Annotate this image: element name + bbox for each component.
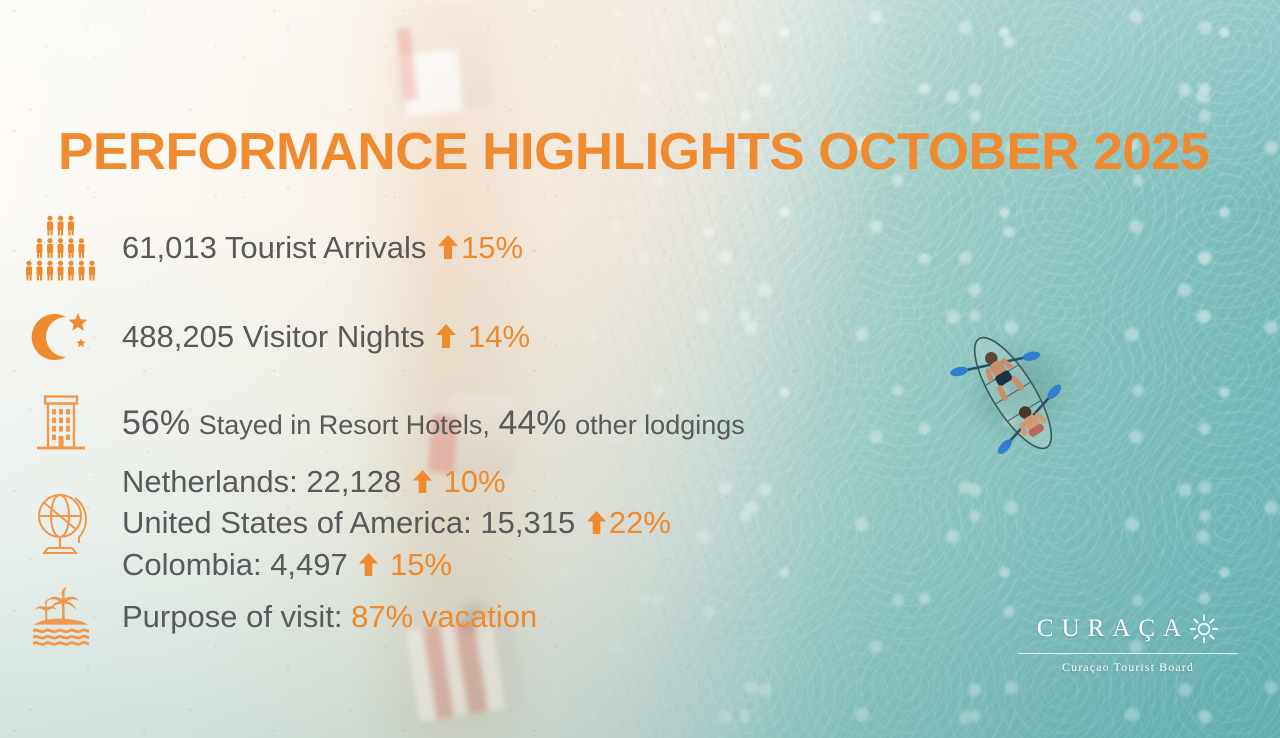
logo-wordmark: C U R A Ç A xyxy=(1012,614,1244,644)
lodging-primary-label: Stayed in Resort Hotels, xyxy=(199,410,490,440)
origin-market-list: Netherlands: 22,128 10% United States of… xyxy=(122,462,671,585)
logo-letter: Ç xyxy=(1138,615,1156,643)
stat-trend: 14% xyxy=(468,319,530,354)
logo-tagline: Curaçao Tourist Board xyxy=(1012,660,1244,675)
stats-list: 61,013 Tourist Arrivals 15% 488,205 Visi… xyxy=(0,205,820,655)
stat-text-tourist-arrivals: 61,013 Tourist Arrivals 15% xyxy=(122,229,523,267)
foam-highlight xyxy=(0,0,180,78)
arrow-up-icon xyxy=(412,469,433,494)
lodging-secondary-pct: 44% xyxy=(498,404,566,442)
stat-value: 61,013 xyxy=(122,230,217,265)
origin-value: 22,128 xyxy=(306,464,401,499)
logo-letter: R xyxy=(1088,615,1106,643)
origin-country: Colombia: xyxy=(122,547,262,582)
purpose-highlight: 87% vacation xyxy=(351,599,537,634)
arrow-up-icon xyxy=(435,323,457,349)
origin-trend: 10% xyxy=(443,464,505,499)
hotel-building-icon xyxy=(0,392,122,456)
people-pyramid-icon xyxy=(0,215,122,281)
arrow-up-icon xyxy=(358,552,379,577)
performance-highlights-slide: PERFORMANCE HIGHLIGHTS OCTOBER 2025 xyxy=(0,0,1280,738)
stat-trend: 15% xyxy=(461,230,523,265)
origin-value: 4,497 xyxy=(270,547,348,582)
arrow-up-icon xyxy=(437,234,459,260)
palm-island-icon xyxy=(0,586,122,648)
lodging-secondary-label: other lodgings xyxy=(575,410,745,440)
stat-row-tourist-arrivals: 61,013 Tourist Arrivals 15% xyxy=(0,205,820,291)
stat-row-lodging: 56% Stayed in Resort Hotels, 44% other l… xyxy=(0,381,820,467)
stat-label: Tourist Arrivals xyxy=(225,230,427,265)
origin-trend: 15% xyxy=(390,547,452,582)
purpose-label: Purpose of visit: xyxy=(122,599,343,634)
origin-market-item: Netherlands: 22,128 10% xyxy=(122,462,671,502)
logo-letter: C xyxy=(1037,615,1055,643)
stat-row-purpose-of-visit: Purpose of visit: 87% vacation xyxy=(0,579,820,655)
origin-trend: 22% xyxy=(609,505,671,540)
logo-letter: A xyxy=(1112,615,1131,643)
stat-text-lodging: 56% Stayed in Resort Hotels, 44% other l… xyxy=(122,403,745,444)
lodging-primary-pct: 56% xyxy=(122,404,190,442)
moon-stars-icon xyxy=(0,307,122,367)
logo-letter: U xyxy=(1062,615,1081,643)
stat-label: Visitor Nights xyxy=(243,319,425,354)
logo-divider xyxy=(1018,653,1238,654)
stat-value: 488,205 xyxy=(122,319,234,354)
logo-letter: A xyxy=(1163,615,1182,643)
page-title: PERFORMANCE HIGHLIGHTS OCTOBER 2025 xyxy=(58,122,1209,182)
origin-country: Netherlands: xyxy=(122,464,298,499)
curacao-tourist-board-logo: C U R A Ç A Curaçao Tourist xyxy=(1012,614,1244,675)
kayak-with-two-paddlers xyxy=(938,332,1088,454)
origin-market-item: United States of America: 15,315 22% xyxy=(122,503,671,543)
stat-row-origin-markets: Netherlands: 22,128 10% United States of… xyxy=(0,467,820,579)
stat-text-purpose-of-visit: Purpose of visit: 87% vacation xyxy=(122,598,537,636)
sun-icon xyxy=(1189,614,1219,644)
origin-value: 15,315 xyxy=(480,505,575,540)
stat-row-visitor-nights: 488,205 Visitor Nights 14% xyxy=(0,293,820,381)
stat-text-visitor-nights: 488,205 Visitor Nights 14% xyxy=(122,318,530,356)
origin-country: United States of America: xyxy=(122,505,472,540)
arrow-up-icon xyxy=(586,510,607,535)
globe-icon xyxy=(0,487,122,559)
